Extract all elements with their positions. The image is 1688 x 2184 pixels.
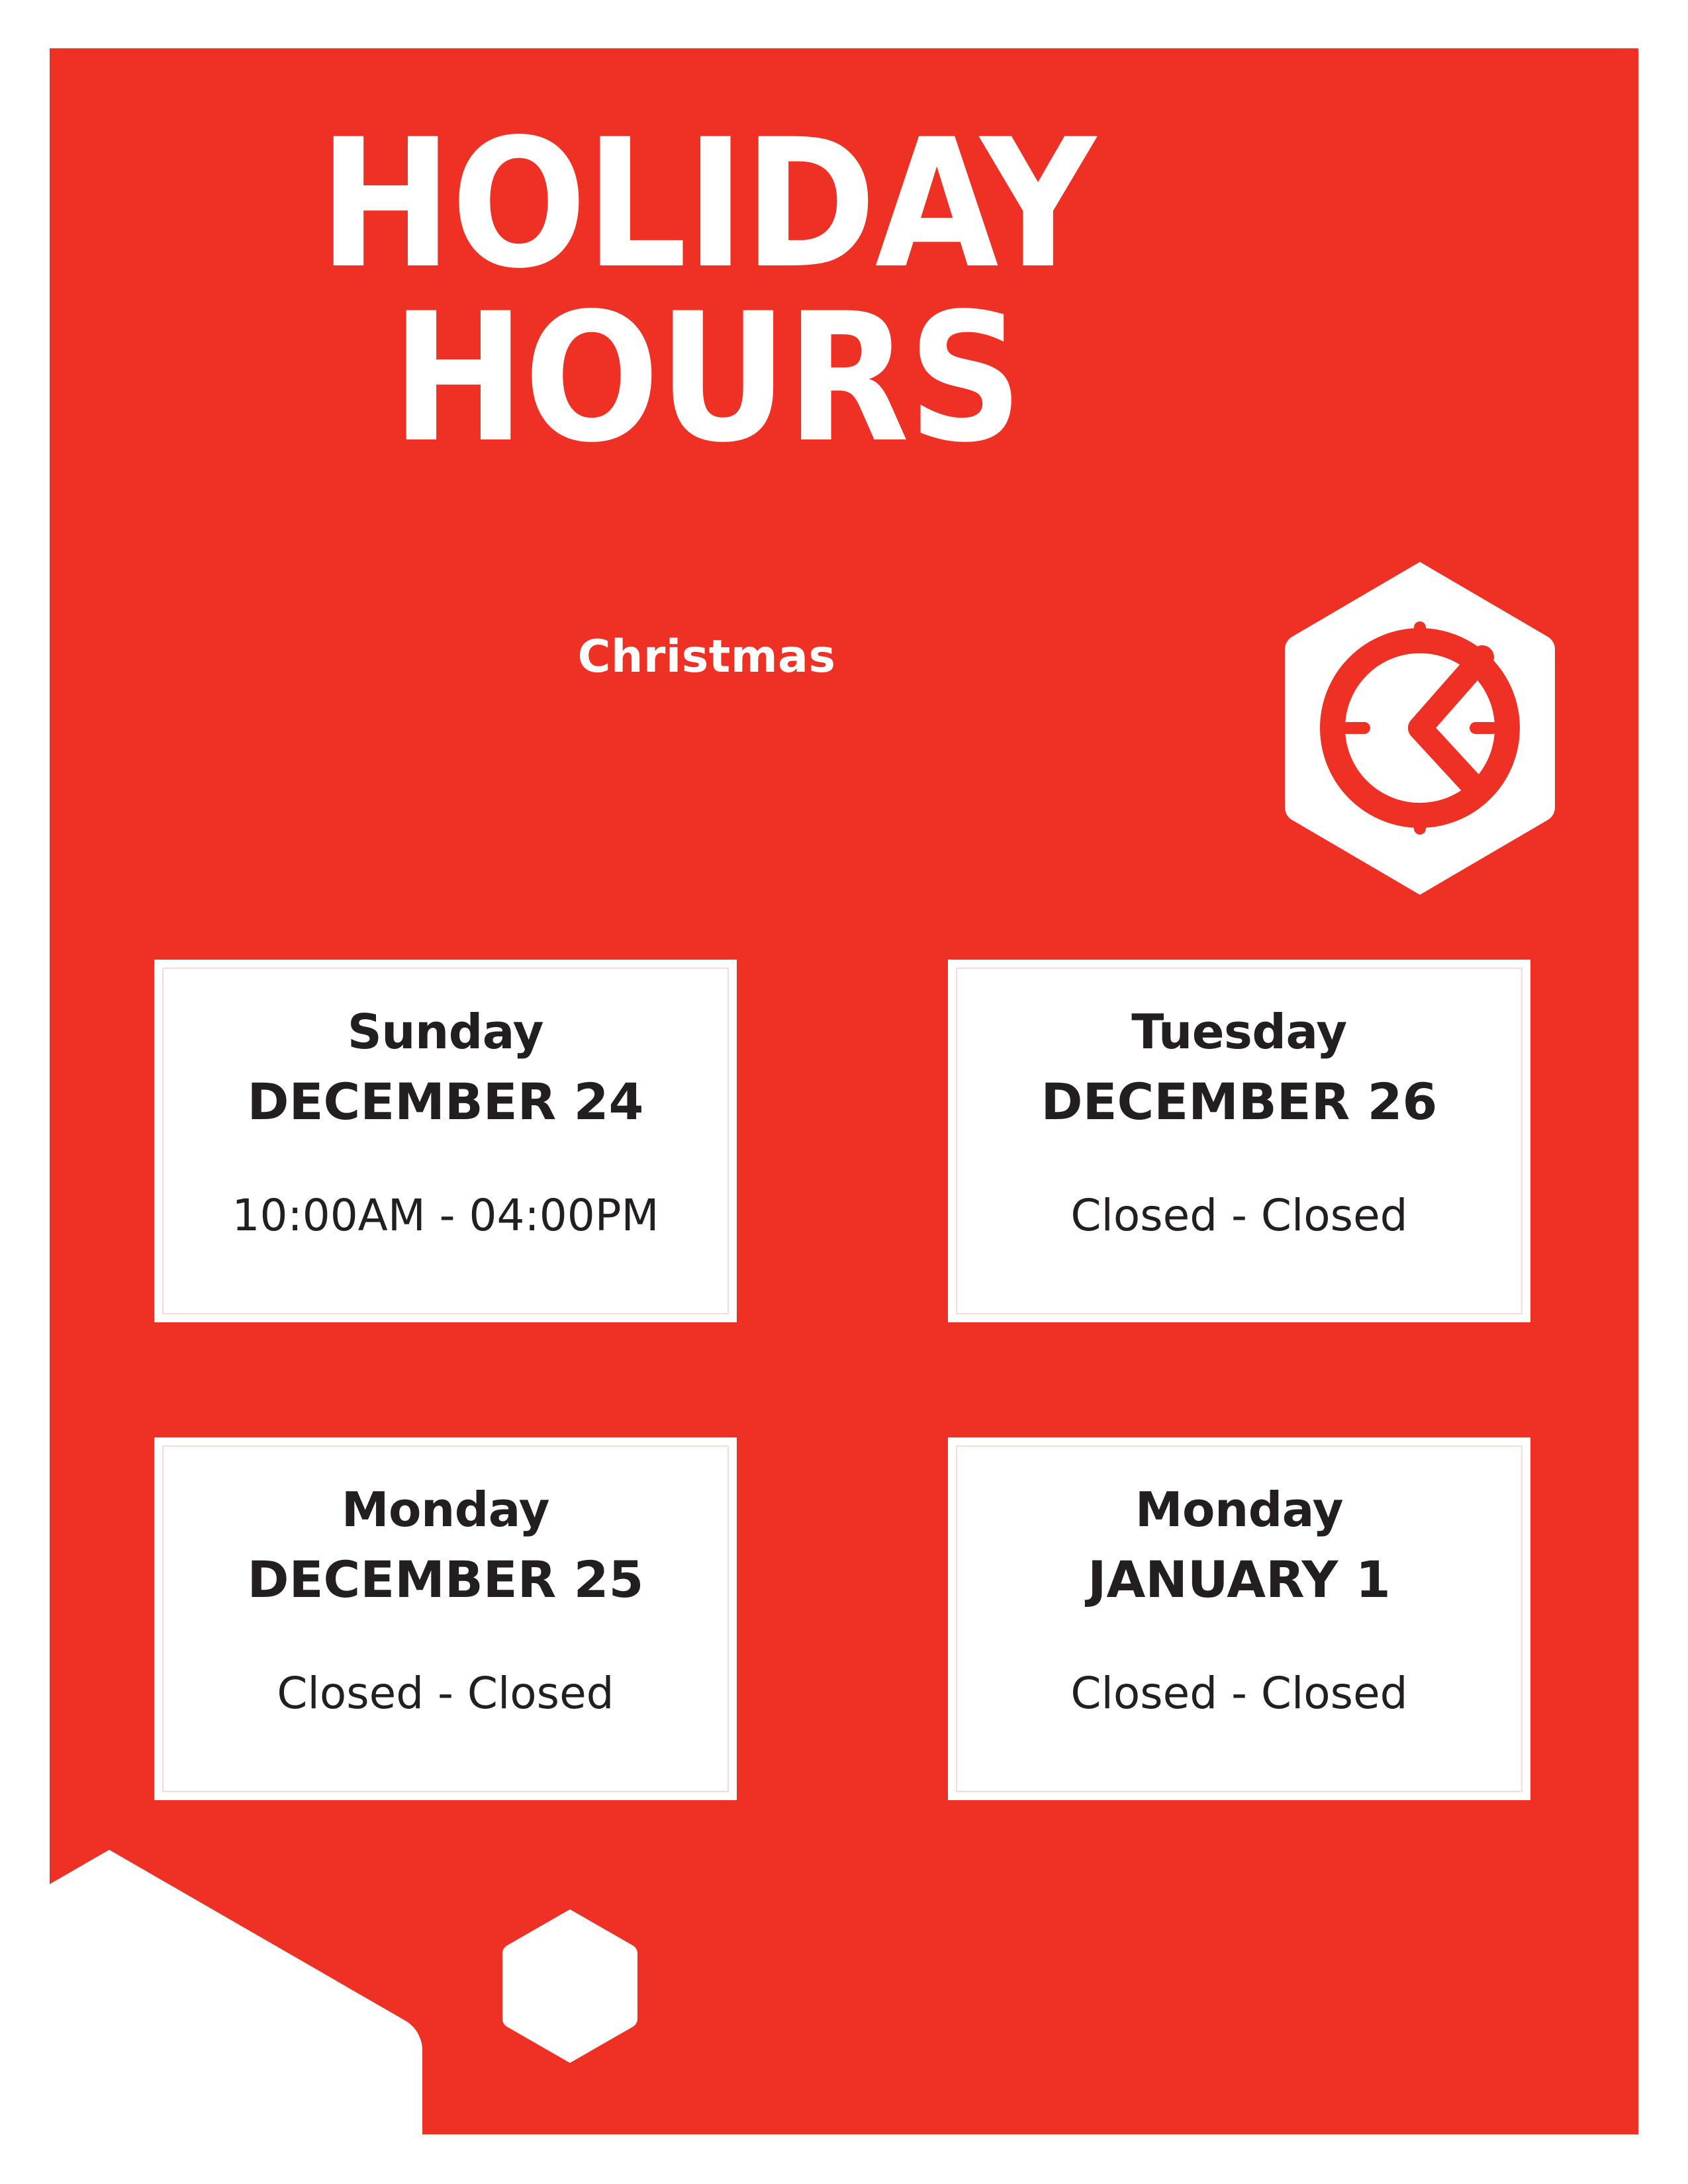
card-hours: Closed - Closed xyxy=(154,1672,737,1715)
card-weekday: Tuesday xyxy=(948,1008,1530,1056)
card-weekday: Monday xyxy=(154,1486,737,1533)
holiday-hours-poster: HOLIDAY HOURS Christmas xyxy=(0,0,1688,2184)
holiday-cards-grid: Sunday DECEMBER 24 10:00AM - 04:00PM Tue… xyxy=(154,960,1538,1807)
card-date: DECEMBER 26 xyxy=(948,1077,1530,1127)
holiday-card[interactable]: Monday DECEMBER 25 Closed - Closed xyxy=(154,1437,737,1800)
hexagon-decoration-small-icon xyxy=(500,1907,640,2066)
clock-hexagon-icon xyxy=(1278,558,1562,899)
holiday-card[interactable]: Sunday DECEMBER 24 10:00AM - 04:00PM xyxy=(154,960,737,1322)
holiday-card[interactable]: Monday JANUARY 1 Closed - Closed xyxy=(948,1437,1530,1800)
card-weekday: Sunday xyxy=(154,1008,737,1056)
title-line-2: HOURS xyxy=(50,292,1364,466)
hexagon-decoration-large-icon xyxy=(50,1842,444,2134)
poster-background-panel: HOLIDAY HOURS Christmas xyxy=(50,48,1638,2134)
card-hours: Closed - Closed xyxy=(948,1672,1530,1715)
card-hours: Closed - Closed xyxy=(948,1194,1530,1238)
card-weekday: Monday xyxy=(948,1486,1530,1533)
card-date: JANUARY 1 xyxy=(948,1555,1530,1605)
title-line-1: HOLIDAY xyxy=(50,118,1364,292)
holiday-card[interactable]: Tuesday DECEMBER 26 Closed - Closed xyxy=(948,960,1530,1322)
card-date: DECEMBER 25 xyxy=(154,1555,737,1605)
page-subtitle: Christmas xyxy=(50,631,1364,683)
card-date: DECEMBER 24 xyxy=(154,1077,737,1127)
card-hours: 10:00AM - 04:00PM xyxy=(154,1194,737,1238)
page-title: HOLIDAY HOURS xyxy=(50,118,1364,465)
